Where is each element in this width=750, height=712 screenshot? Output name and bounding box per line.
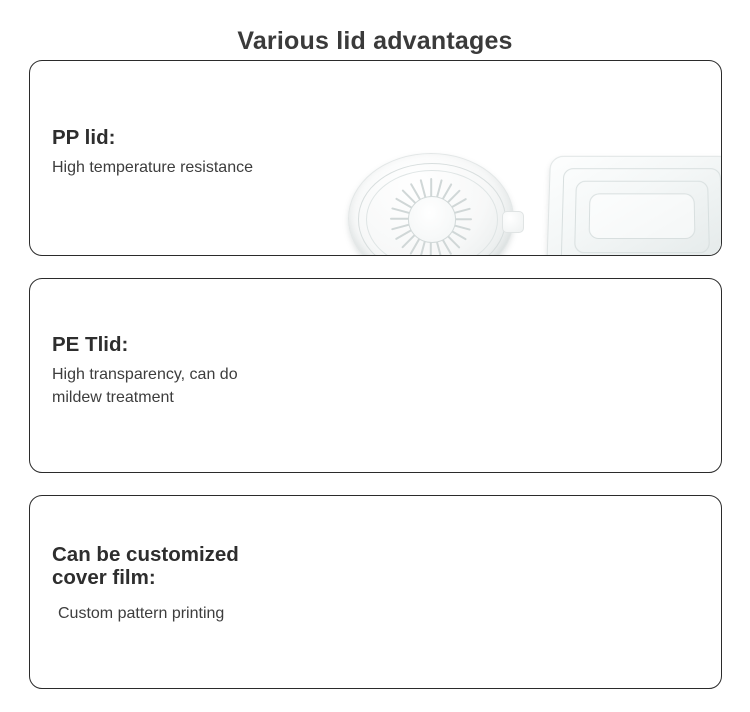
round-pp-lid-image bbox=[348, 153, 514, 256]
round-lid-tab bbox=[502, 211, 524, 233]
card-film-subtext: Custom pattern printing bbox=[52, 596, 352, 625]
card-film-text-block: Can be customized cover film: Custom pat… bbox=[52, 544, 352, 625]
card-pe-heading: PE Tlid: bbox=[52, 334, 352, 357]
round-lid-center-hub bbox=[408, 196, 456, 243]
card-pp-heading: PP lid: bbox=[52, 127, 352, 150]
page-title: Various lid advantages bbox=[0, 27, 750, 56]
card-film-heading: Can be customized cover film: bbox=[52, 544, 352, 590]
card-pe-subtext: High transparency, can do mildew treatme… bbox=[52, 363, 352, 409]
card-cover-film: Can be customized cover film: Custom pat… bbox=[29, 495, 722, 689]
card-pp-subtext: High temperature resistance bbox=[52, 156, 352, 179]
rectangular-pp-lid-image bbox=[548, 154, 722, 256]
card-pe-lid: PE Tlid: High transparency, can do milde… bbox=[29, 278, 722, 473]
card-pe-text-block: PE Tlid: High transparency, can do milde… bbox=[52, 334, 352, 409]
card-pp-text-block: PP lid: High temperature resistance bbox=[52, 127, 352, 179]
card-pp-lid: PP lid: High temperature resistance bbox=[29, 60, 722, 256]
rect-lid-ridge-inner bbox=[589, 193, 695, 239]
rect-lid-body bbox=[546, 156, 722, 256]
